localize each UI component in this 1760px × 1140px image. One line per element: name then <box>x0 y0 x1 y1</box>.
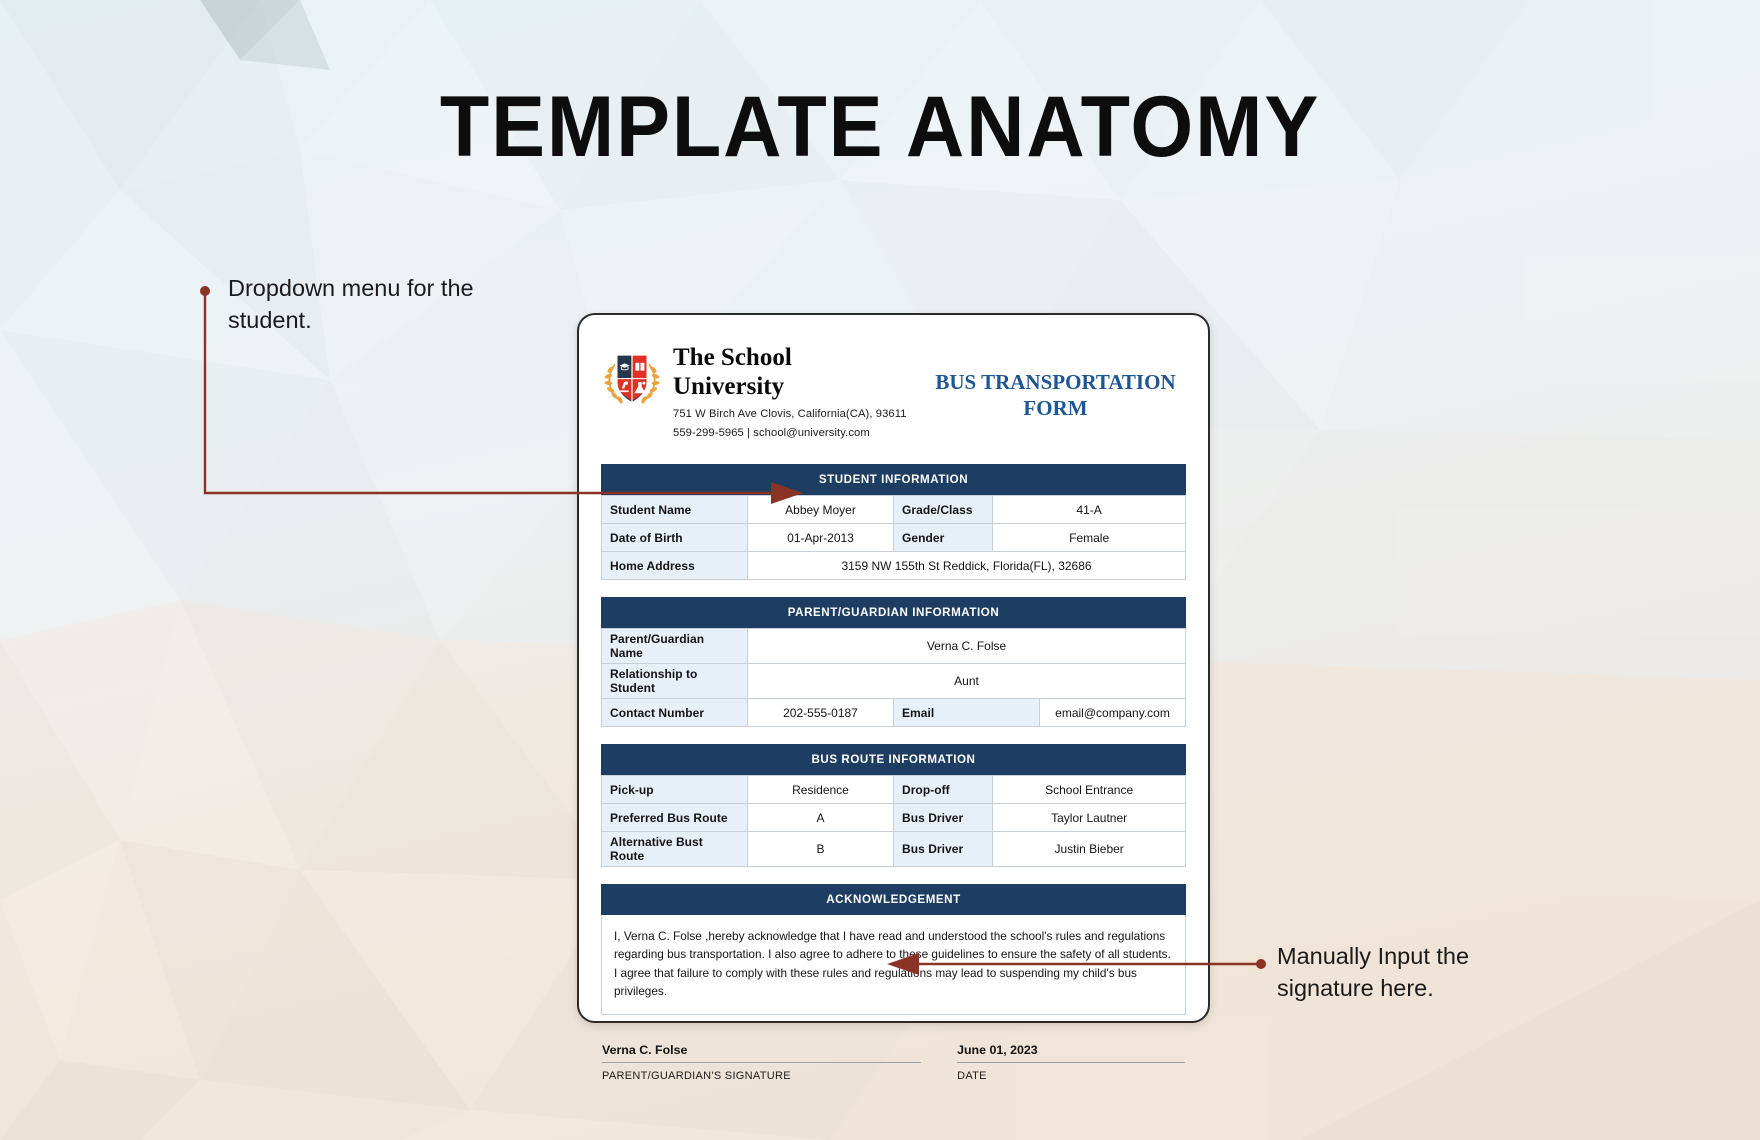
row-label: Drop-off <box>894 776 993 804</box>
form-title: BUS TRANSPORTATION FORM <box>933 343 1186 422</box>
table-row: Pick-up Residence Drop-off School Entran… <box>602 776 1186 804</box>
dropoff-value[interactable]: School Entrance <box>993 776 1186 804</box>
gender-value[interactable]: Female <box>993 524 1186 552</box>
contact-number-value[interactable]: 202-555-0187 <box>748 699 894 727</box>
relationship-value[interactable]: Aunt <box>748 664 1186 699</box>
table-row: Preferred Bus Route A Bus Driver Taylor … <box>602 804 1186 832</box>
table-row: Parent/Guardian Name Verna C. Folse <box>602 629 1186 664</box>
section-banner-acknowledgement: ACKNOWLEDGEMENT <box>601 884 1186 915</box>
section-bus-route-information: BUS ROUTE INFORMATION Pick-up Residence … <box>597 744 1190 867</box>
signature-caption: PARENT/GUARDIAN'S SIGNATURE <box>602 1070 921 1082</box>
table-row: Alternative Bust Route B Bus Driver Just… <box>602 832 1186 867</box>
table-row: Relationship to Student Aunt <box>602 664 1186 699</box>
bus-route-table: Pick-up Residence Drop-off School Entran… <box>601 775 1186 867</box>
row-label: Pick-up <box>602 776 748 804</box>
home-address-value[interactable]: 3159 NW 155th St Reddick, Florida(FL), 3… <box>748 552 1186 580</box>
preferred-route-value[interactable]: A <box>748 804 894 832</box>
signature-block: Verna C. Folse PARENT/GUARDIAN'S SIGNATU… <box>597 1043 1190 1082</box>
email-value[interactable]: email@company.com <box>1040 699 1186 727</box>
row-label: Alternative Bust Route <box>602 832 748 867</box>
section-banner-parent: PARENT/GUARDIAN INFORMATION <box>601 597 1186 628</box>
row-label: Bus Driver <box>894 832 993 867</box>
bus-driver-primary-value[interactable]: Taylor Lautner <box>993 804 1186 832</box>
alternative-route-value[interactable]: B <box>748 832 894 867</box>
row-label: Date of Birth <box>602 524 748 552</box>
section-parent-guardian-information: PARENT/GUARDIAN INFORMATION Parent/Guard… <box>597 597 1190 727</box>
pickup-value[interactable]: Residence <box>748 776 894 804</box>
section-banner-bus-route: BUS ROUTE INFORMATION <box>601 744 1186 775</box>
table-row: Contact Number 202-555-0187 Email email@… <box>602 699 1186 727</box>
row-label: Relationship to Student <box>602 664 748 699</box>
row-label: Gender <box>894 524 993 552</box>
row-label: Email <box>894 699 1040 727</box>
row-label: Bus Driver <box>894 804 993 832</box>
parent-name-value[interactable]: Verna C. Folse <box>748 629 1186 664</box>
annotation-dropdown-text: Dropdown menu for the student. <box>228 272 558 337</box>
row-label: Home Address <box>602 552 748 580</box>
date-value[interactable]: June 01, 2023 <box>957 1043 1185 1063</box>
table-row: Date of Birth 01-Apr-2013 Gender Female <box>602 524 1186 552</box>
row-label: Parent/Guardian Name <box>602 629 748 664</box>
date-column: June 01, 2023 DATE <box>957 1043 1185 1082</box>
date-of-birth-value[interactable]: 01-Apr-2013 <box>748 524 894 552</box>
row-label: Preferred Bus Route <box>602 804 748 832</box>
table-row: Home Address 3159 NW 155th St Reddick, F… <box>602 552 1186 580</box>
row-label: Contact Number <box>602 699 748 727</box>
signature-column: Verna C. Folse PARENT/GUARDIAN'S SIGNATU… <box>602 1043 921 1082</box>
row-label: Grade/Class <box>894 496 993 524</box>
parent-guardian-table: Parent/Guardian Name Verna C. Folse Rela… <box>601 628 1186 727</box>
annotation-signature-text: Manually Input the signature here. <box>1277 940 1537 1005</box>
connector-signature-annotation <box>885 948 1285 982</box>
grade-class-value[interactable]: 41-A <box>993 496 1186 524</box>
bus-driver-alternate-value[interactable]: Justin Bieber <box>993 832 1186 867</box>
date-caption: DATE <box>957 1070 1185 1082</box>
page-title: TEMPLATE ANATOMY <box>53 78 1707 177</box>
signature-value[interactable]: Verna C. Folse <box>602 1043 921 1063</box>
